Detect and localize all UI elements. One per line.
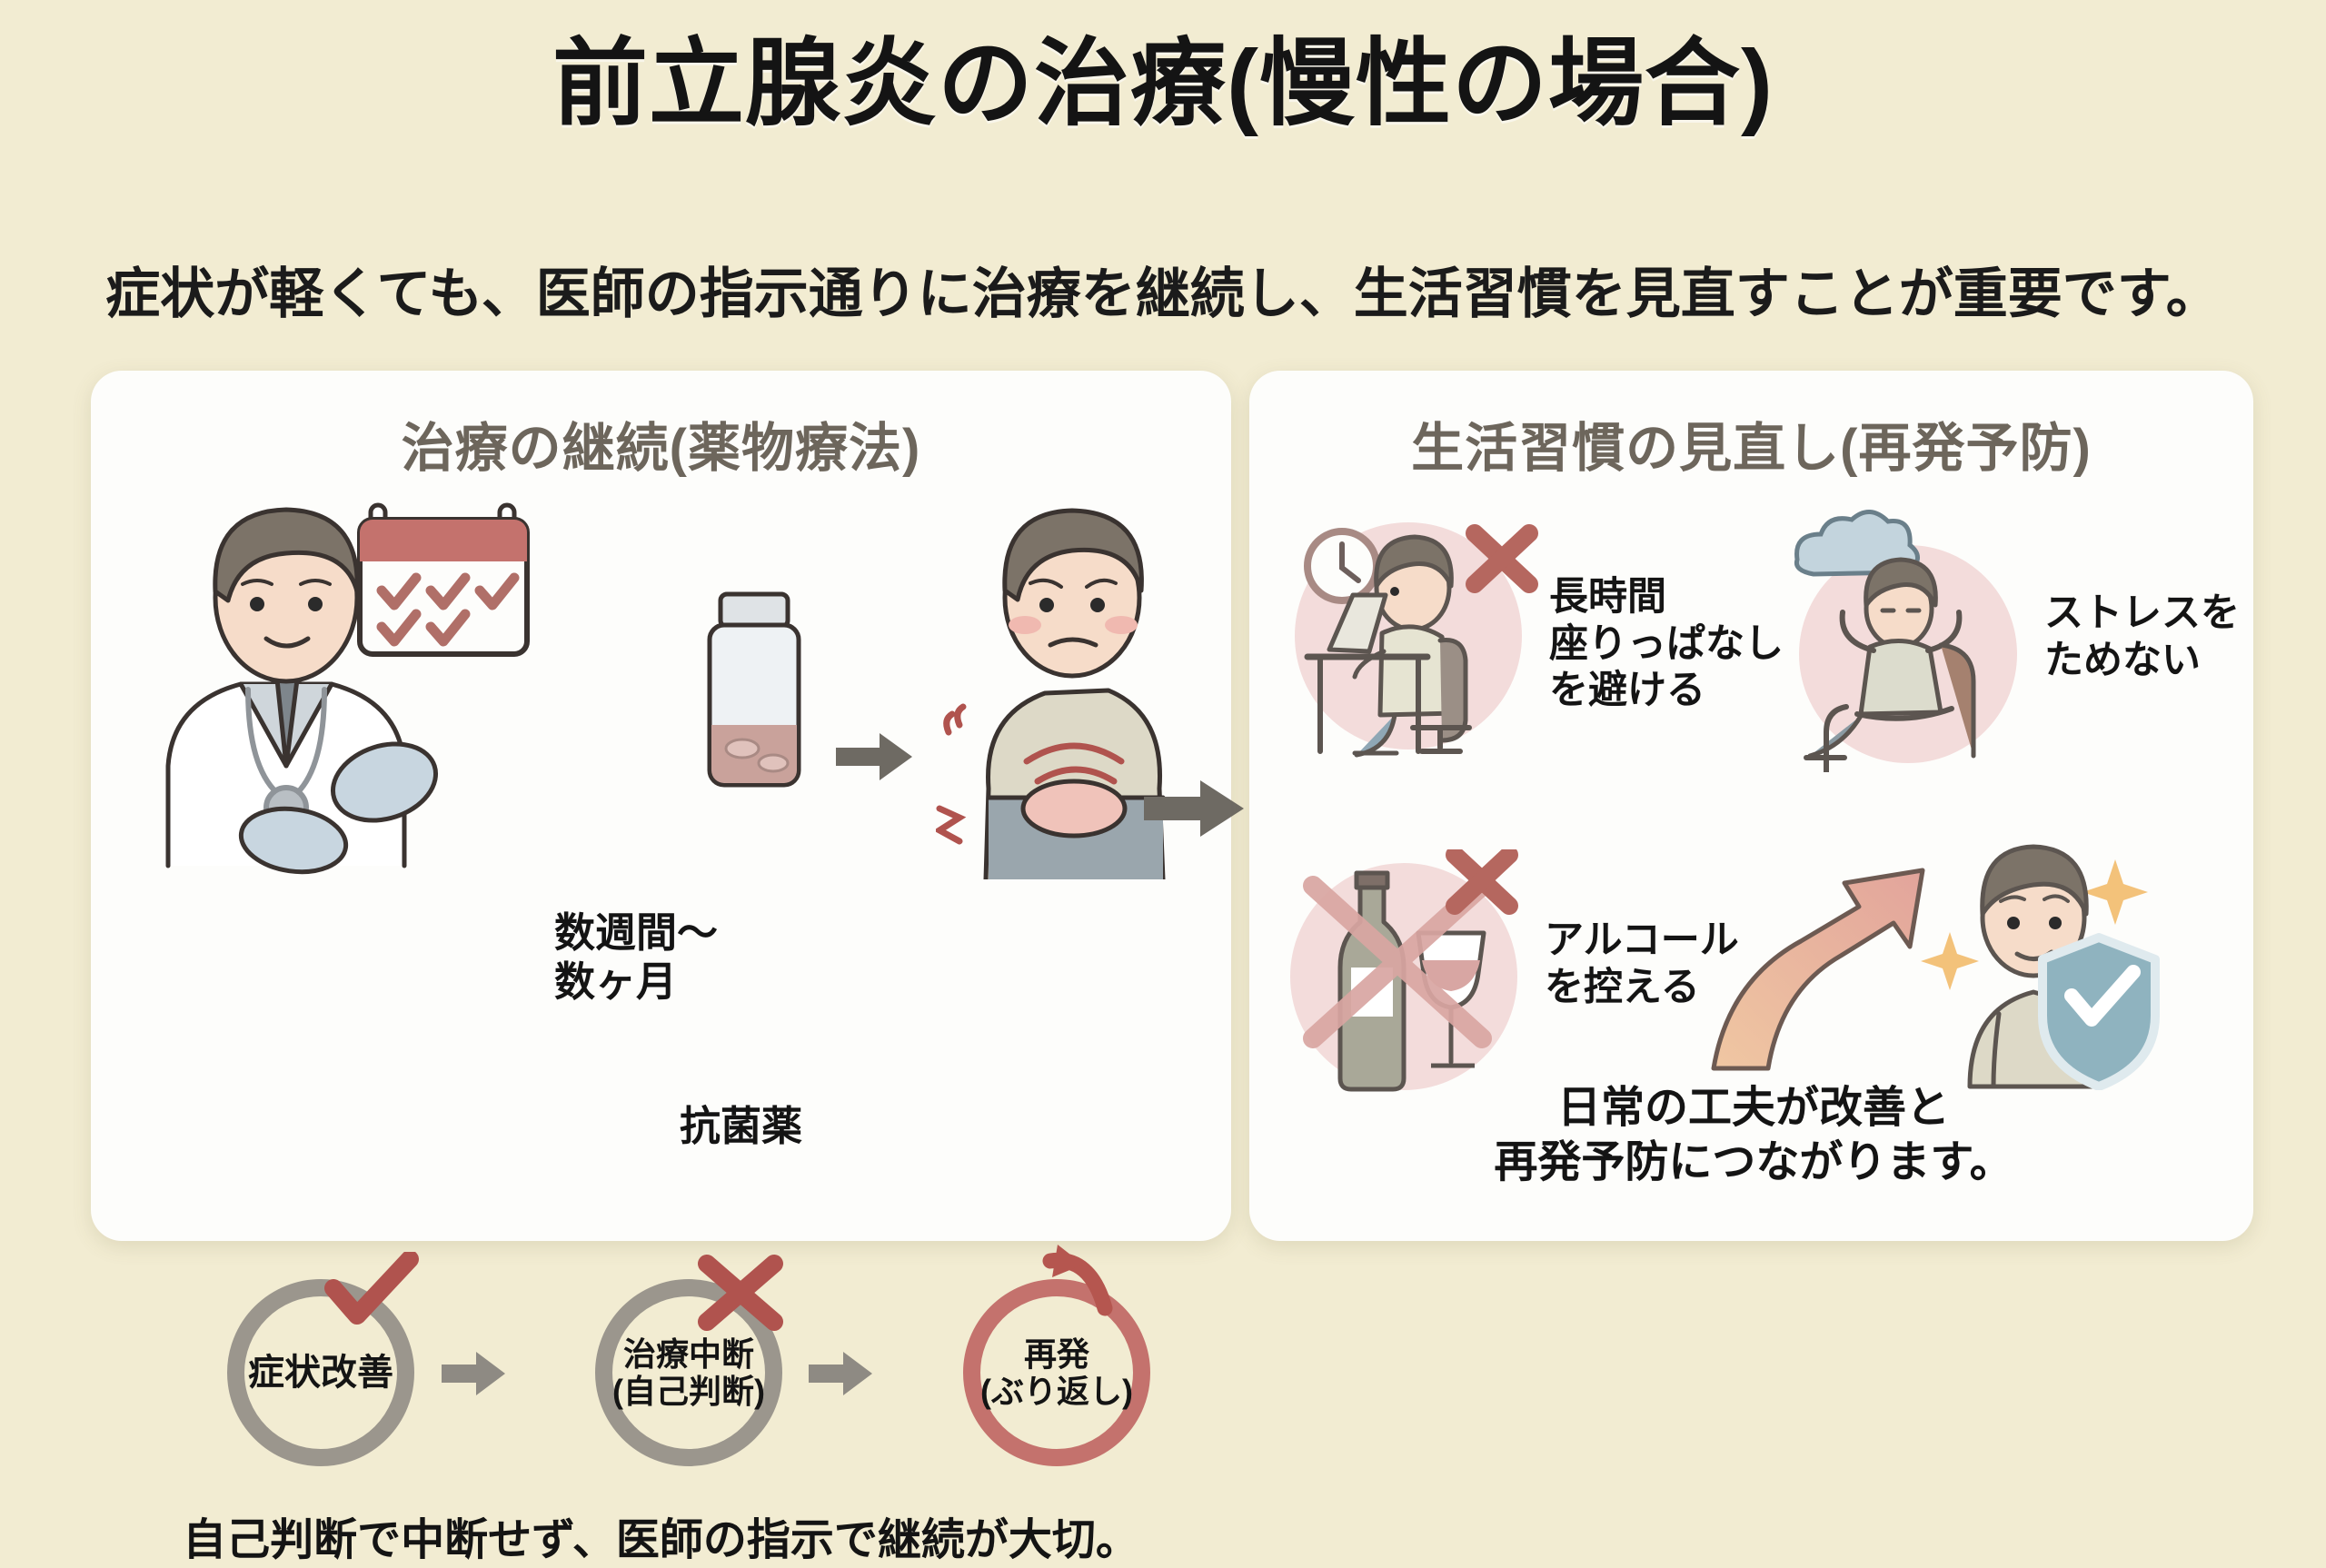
- arrow-up-person-shield-illustration: [1708, 818, 2181, 1090]
- medicine-label: 抗菌薬: [680, 1102, 802, 1151]
- pill-bottle-illustration: [686, 589, 822, 798]
- page-subtitle: 症状が軽くても、医師の指示通りに治療を継続し、生活習慣を見直すことが重要です。: [0, 250, 2326, 329]
- flow-arrow-2-icon: [809, 1350, 876, 1397]
- between-cards-arrow-icon: [1140, 777, 1249, 840]
- left-card-footer: 自己判断で中断せず、医師の指示で継続が大切。: [91, 1513, 1231, 1568]
- avoid-stress-label: ストレスを ためない: [2044, 590, 2240, 684]
- arrow-to-patient-icon: [836, 729, 918, 784]
- right-card-title: 生活習慣の見直し(再発予防): [1249, 405, 2253, 481]
- duration-label: 数週間〜 数ヶ月: [554, 908, 718, 1007]
- relaxing-person-cloud-illustration: [1763, 509, 2035, 772]
- check-badge-icon: [323, 1252, 422, 1334]
- wine-bottle-glass-illustration: [1277, 849, 1540, 1104]
- infographic-page: 前立腺炎の治療(慢性の場合) 症状が軽くても、医師の指示通りに治療を継続し、生活…: [0, 0, 2326, 1298]
- page-title: 前立腺炎の治療(慢性の場合): [0, 35, 2326, 134]
- avoid-long-sitting-label: 長時間 座りっぱなし を避ける: [1549, 574, 1784, 715]
- left-card: 治療の継続(薬物療法): [91, 371, 1231, 1241]
- right-card-footer: 日常の工夫が改善と 再発予防につながります。: [1327, 1081, 2181, 1190]
- desk-laptop-clock-illustration: [1286, 513, 1540, 759]
- flow-arrow-1-icon: [442, 1350, 509, 1397]
- calendar-illustration: [354, 500, 536, 663]
- cross-badge-icon: [691, 1247, 790, 1338]
- left-card-title: 治療の継続(薬物療法): [91, 405, 1231, 481]
- relapse-loop-arrow-icon: [1018, 1243, 1127, 1325]
